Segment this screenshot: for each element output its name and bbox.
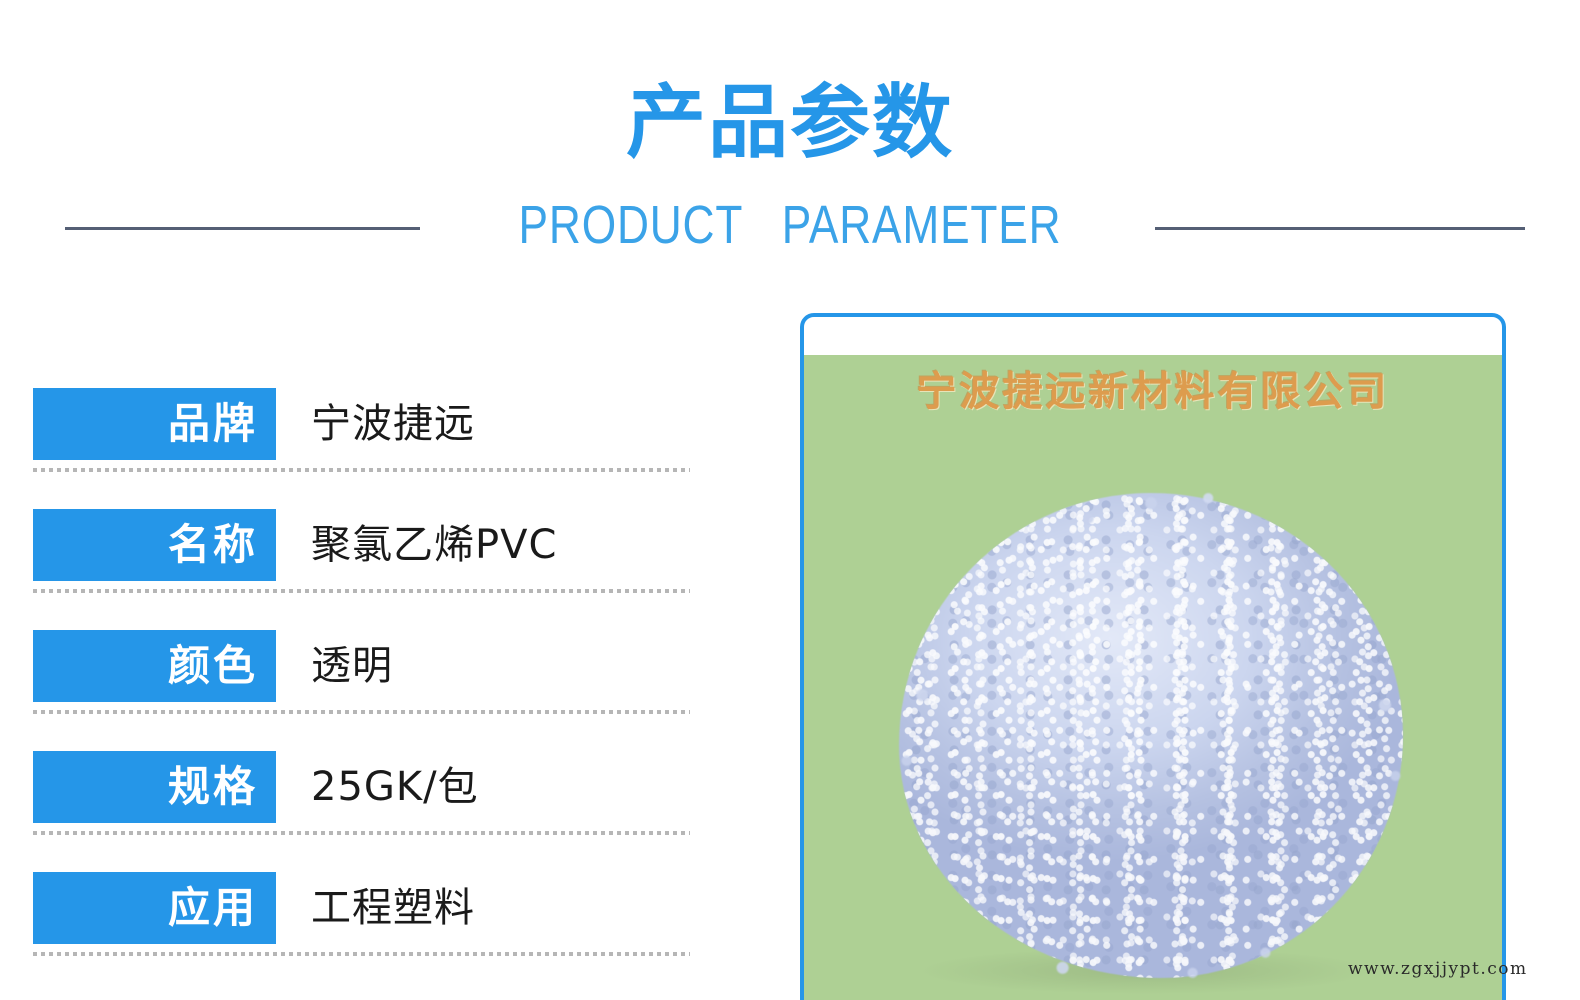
spec-label-specification: 规格	[33, 751, 276, 823]
spec-list: 品牌 宁波捷远 名称 聚氯乙烯PVC 颜色 透明	[33, 388, 693, 993]
spec-label-text: 名称	[168, 522, 258, 568]
spec-value-application: 工程塑料	[311, 872, 475, 944]
pile-edge	[891, 483, 1411, 988]
product-photo-card: 宁波捷远新材料有限公司	[800, 313, 1506, 1000]
spec-label-color: 颜色	[33, 630, 276, 702]
page-header: 产品参数 PRODUCT PARAMETER	[0, 0, 1580, 300]
spec-label-text: 规格	[168, 764, 258, 810]
spec-value-specification: 25GK/包	[311, 751, 479, 823]
spec-row: 名称 聚氯乙烯PVC	[33, 509, 693, 630]
spec-divider	[33, 831, 690, 835]
spec-divider	[33, 468, 690, 472]
spec-value-text: 透明	[311, 643, 393, 689]
spec-divider	[33, 589, 690, 593]
spec-value-text: 宁波捷远	[311, 401, 475, 447]
product-parameter-page: 产品参数 PRODUCT PARAMETER 品牌 宁波捷远 名称 聚氯乙烯PV…	[0, 0, 1580, 1000]
spec-value-text: 25GK/包	[311, 764, 479, 810]
page-title-chinese: 产品参数	[0, 78, 1580, 168]
spec-value-text: 工程塑料	[311, 885, 475, 931]
spec-value-brand: 宁波捷远	[311, 388, 475, 460]
product-photo: 宁波捷远新材料有限公司	[804, 355, 1502, 1000]
company-watermark-text: 宁波捷远新材料有限公司	[804, 367, 1502, 417]
page-subtitle-english: PRODUCT PARAMETER	[142, 190, 1438, 260]
spec-row: 颜色 透明	[33, 630, 693, 751]
spec-value-name: 聚氯乙烯PVC	[311, 509, 557, 581]
spec-label-text: 品牌	[168, 401, 258, 447]
spec-label-name: 名称	[33, 509, 276, 581]
spec-label-brand: 品牌	[33, 388, 276, 460]
pvc-pellet-pile-image	[891, 483, 1411, 988]
spec-divider	[33, 952, 690, 956]
spec-label-text: 应用	[168, 885, 258, 931]
spec-row: 规格 25GK/包	[33, 751, 693, 872]
spec-value-color: 透明	[311, 630, 393, 702]
spec-label-text: 颜色	[168, 643, 258, 689]
spec-value-text: 聚氯乙烯PVC	[311, 522, 557, 568]
spec-divider	[33, 710, 690, 714]
spec-row: 应用 工程塑料	[33, 872, 693, 993]
spec-row: 品牌 宁波捷远	[33, 388, 693, 509]
site-url-watermark: www.zgxjjypt.com	[1348, 958, 1528, 980]
spec-label-application: 应用	[33, 872, 276, 944]
